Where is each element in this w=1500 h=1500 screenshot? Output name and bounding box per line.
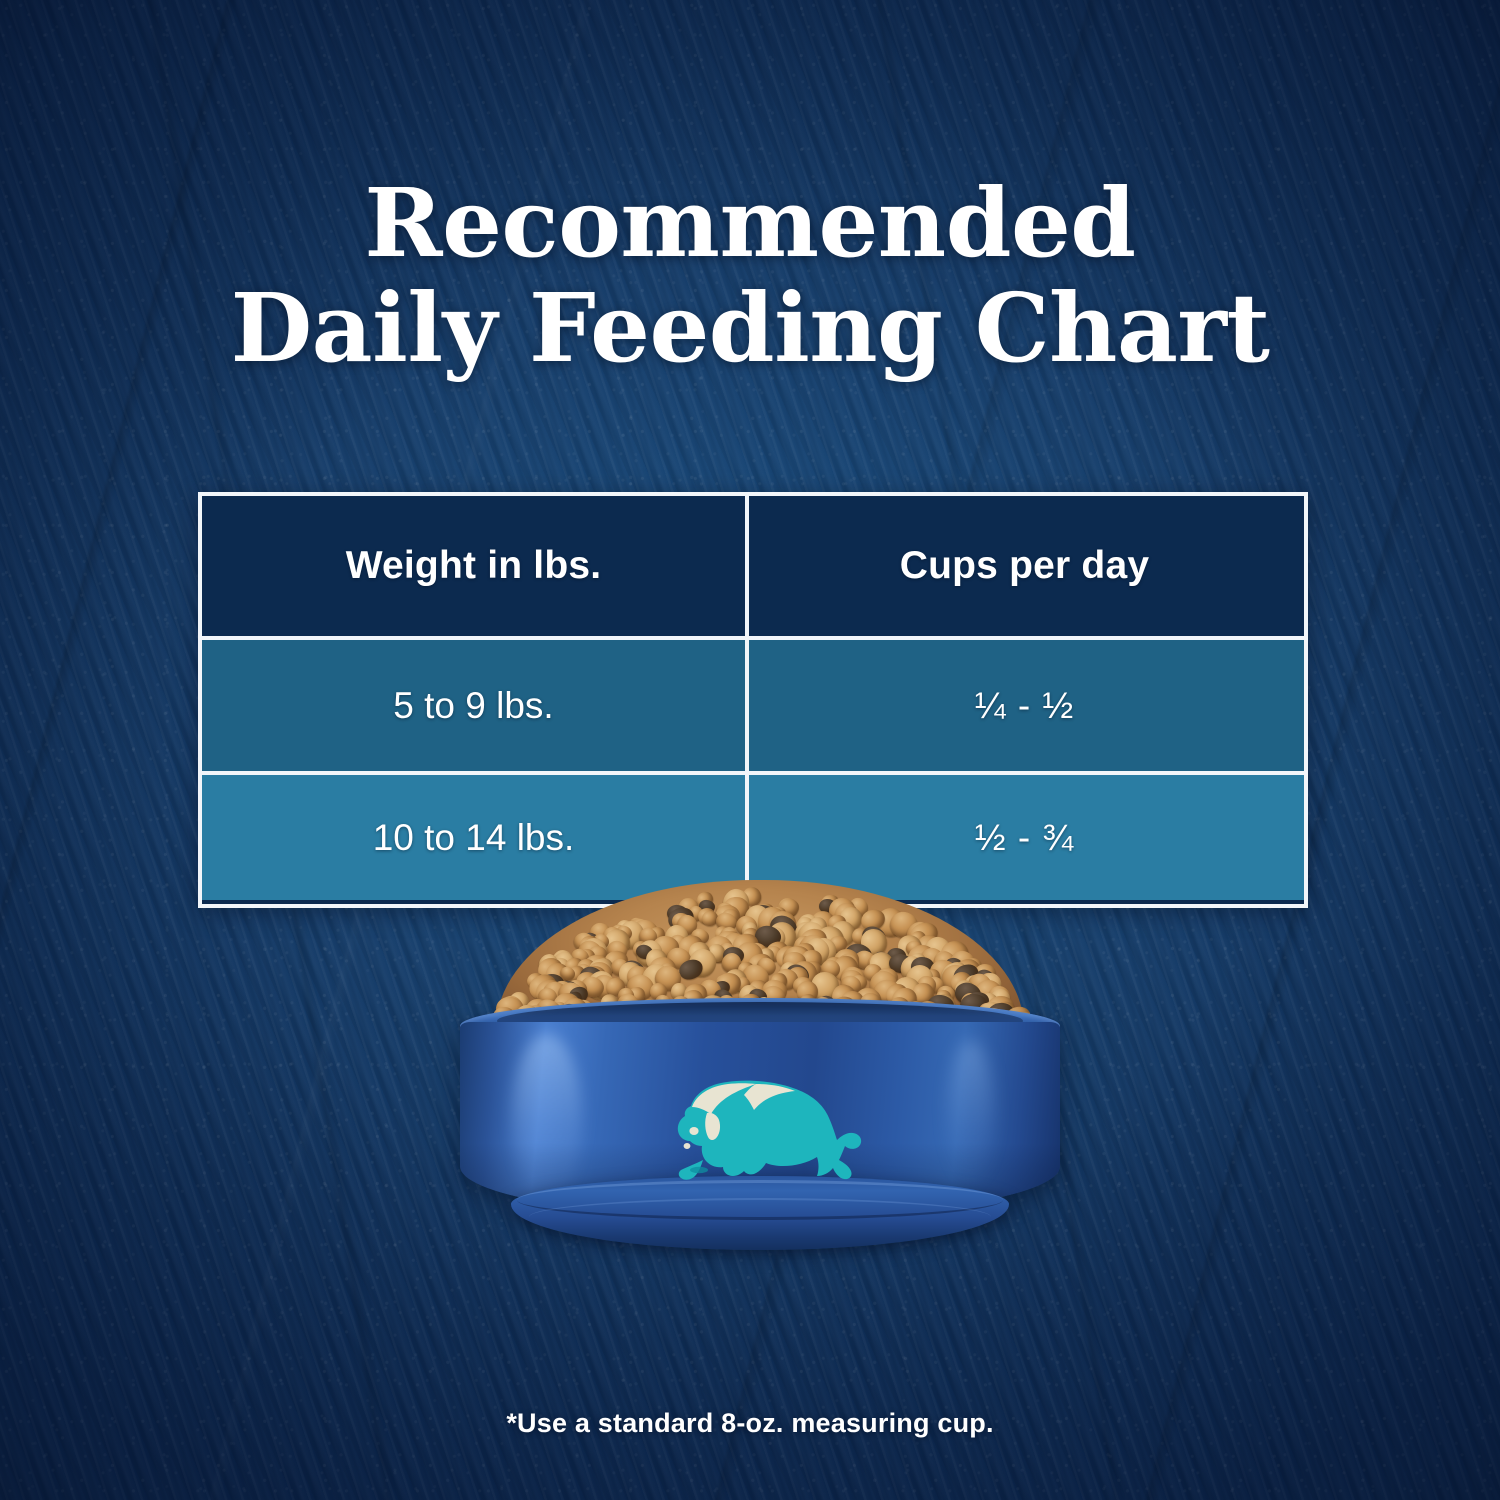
table-row: 5 to 9 lbs. ¼ - ½ bbox=[202, 636, 1304, 771]
page-title-line-2: Daily Feeding Chart bbox=[8, 281, 1493, 378]
bowl-highlight-right bbox=[948, 1040, 994, 1190]
feeding-chart-table: Weight in lbs. Cups per day 5 to 9 lbs. … bbox=[198, 492, 1308, 908]
measuring-cup-note: *Use a standard 8-oz. measuring cup. bbox=[0, 1408, 1500, 1439]
table-header-weight: Weight in lbs. bbox=[202, 496, 745, 636]
page-title-line-1: Recommended bbox=[8, 176, 1493, 273]
content-layer: Recommended Daily Feeding Chart Weight i… bbox=[0, 0, 1500, 1500]
page-title: Recommended Daily Feeding Chart bbox=[0, 176, 1500, 378]
bowl-base-ring-lower bbox=[529, 1198, 991, 1236]
bowl-highlight-left bbox=[512, 1034, 582, 1204]
table-header-row: Weight in lbs. Cups per day bbox=[202, 496, 1304, 636]
dog-food-bowl-image bbox=[455, 880, 1065, 1300]
table-header-cups: Cups per day bbox=[745, 496, 1300, 636]
table-cell-cups-1: ¼ - ½ bbox=[745, 640, 1300, 771]
bison-logo bbox=[651, 1062, 881, 1190]
table-cell-weight-1: 5 to 9 lbs. bbox=[202, 640, 745, 771]
